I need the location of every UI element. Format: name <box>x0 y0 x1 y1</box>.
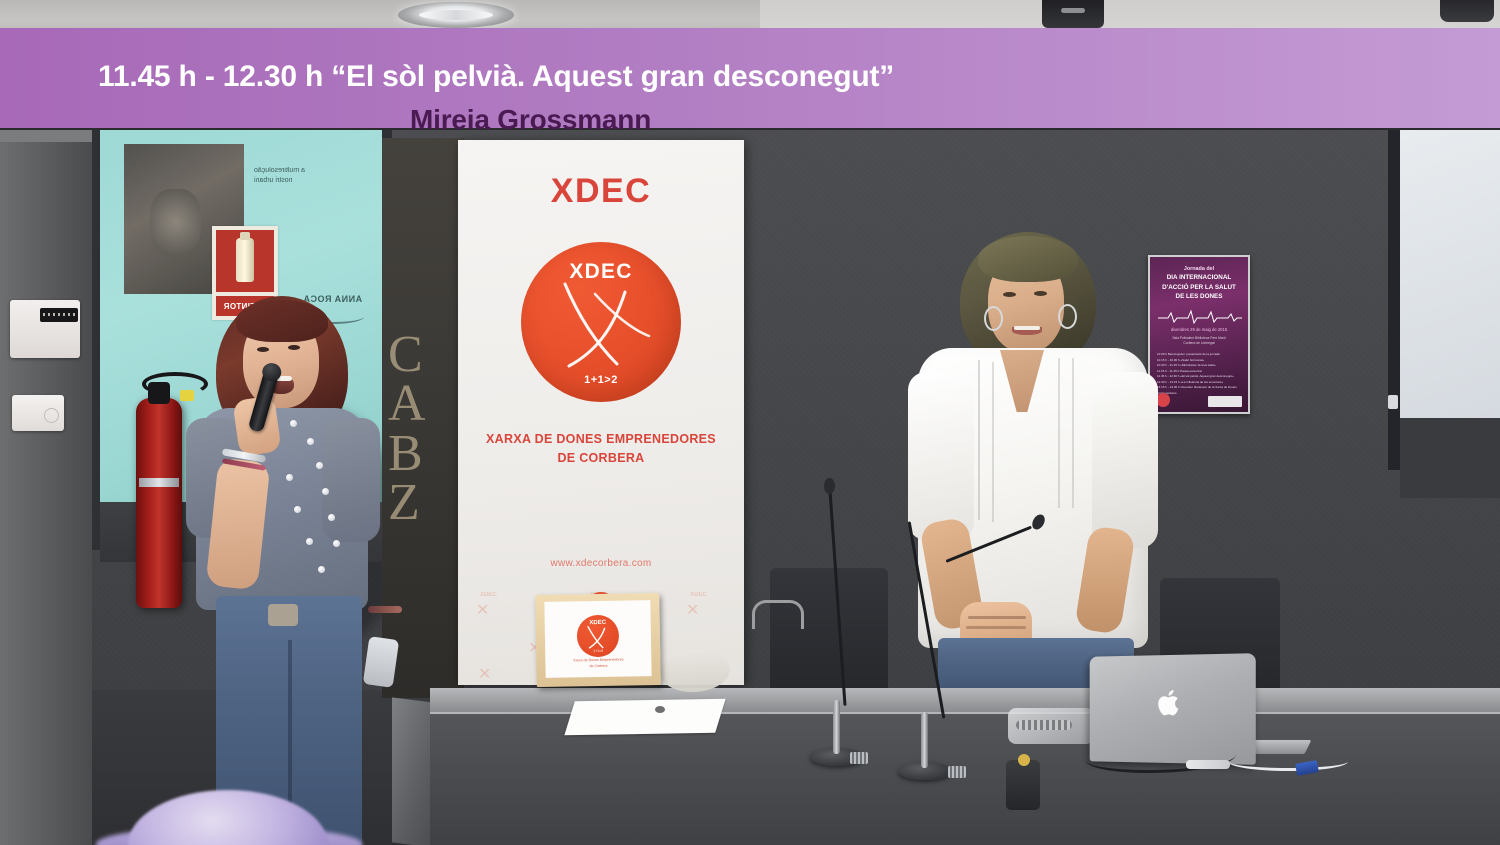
rollup-subtitle-line2: DE CORBERA <box>557 451 644 465</box>
sleeve-left <box>908 372 974 540</box>
extinguisher-tag <box>180 390 194 401</box>
slide-text-line2: nostri urbani <box>254 176 374 186</box>
finger-line <box>966 626 1026 629</box>
hair-fringe <box>978 236 1078 282</box>
poster-kicker: Jornada del <box>1184 266 1214 272</box>
watermark-x-icon: ✕ <box>476 600 489 620</box>
projection-screen-right <box>1400 130 1500 418</box>
jeans-drawstring <box>268 604 298 626</box>
sleeve-right <box>1092 372 1158 548</box>
white-cable <box>1228 752 1348 771</box>
banner-speaker-name: Mireia Grossmann <box>410 104 651 136</box>
poster-logo-row <box>1156 389 1242 407</box>
poster-venue-line1: Sala Polivalent Biblioteca Pere Martí <box>1172 336 1225 340</box>
poster-title-line3: DE LES DONES <box>1176 293 1223 300</box>
glass-etched-letters: CABZ <box>388 330 426 528</box>
usb-plug-icon <box>1186 760 1230 769</box>
desk-left-return <box>392 697 434 845</box>
alarm-panel-icon <box>10 300 80 358</box>
poster-date: divendres 29 de maig de 2015 <box>1150 327 1248 332</box>
eye-left <box>1003 292 1016 297</box>
ceiling-projector-icon <box>1440 0 1494 22</box>
poster-heading: Jornada del DIA INTERNACIONAL D'ACCIÓ PE… <box>1150 257 1248 301</box>
pillar-top-edge <box>0 130 92 142</box>
certificate-caption-line2: de Corbera <box>589 663 607 667</box>
xdec-logo-icon: XDEC 1+1>2 <box>521 242 681 402</box>
extinguisher-pictogram-icon <box>236 238 254 282</box>
rollup-website: www.xdecorbera.com <box>458 558 744 569</box>
wrist-band <box>368 606 402 613</box>
screen-hook-icon <box>1388 395 1398 409</box>
eye-right <box>288 345 300 350</box>
blouse-pleat <box>978 360 980 520</box>
blouse-pleat <box>1058 358 1060 508</box>
extinguisher-hose <box>142 372 208 396</box>
chair-armrest <box>752 600 804 629</box>
poster-venue-line2: Corbera de Llobregat <box>1183 341 1214 345</box>
xdec-motto: 1+1>2 <box>521 374 681 386</box>
eye-left <box>257 347 269 352</box>
extinguisher-band <box>139 478 179 487</box>
finger-line <box>968 616 1026 619</box>
alarm-panel-display <box>40 308 78 322</box>
mic-connector <box>850 752 868 764</box>
certificate-mat: XDEC 1+1>2 Xarxa de Dones Emprenedores d… <box>544 600 651 678</box>
poster-title-line2: D'ACCIÓ PER LA SALUT <box>1162 284 1236 291</box>
ceiling-light-icon <box>398 2 514 28</box>
fire-extinguisher-icon <box>136 398 182 608</box>
banner-title-line: 11.45 h - 12.30 h “El sòl pelvià. Aquest… <box>98 60 894 94</box>
apple-logo-icon <box>1157 687 1183 717</box>
eye-right <box>1034 291 1047 296</box>
paper-sheet <box>564 699 725 736</box>
blouse-pleat <box>1072 358 1074 508</box>
rollup-subtitle-line1: XARXA DE DONES EMPRENEDORES <box>486 432 716 446</box>
poster-logo-red-icon <box>1156 393 1170 407</box>
wall-pillar <box>0 130 92 845</box>
poster-logo-institution-icon <box>1208 396 1242 407</box>
mic-connector <box>948 766 966 778</box>
right-screen-valance <box>1400 418 1500 498</box>
mic-mount-base <box>1006 760 1040 810</box>
teeth <box>1014 326 1040 330</box>
hair-fringe <box>236 300 328 342</box>
slide-presenter-name: ANNA ROCA <box>303 294 362 304</box>
sign-red-field <box>216 230 274 292</box>
ceiling-speaker-icon <box>1042 0 1104 28</box>
certificate-logo-icon: XDEC 1+1>2 <box>577 615 620 658</box>
blouse-pleat <box>992 362 994 522</box>
watermark-x-icon: ✕ <box>686 600 699 620</box>
title-banner: 11.45 h - 12.30 h “El sòl pelvià. Aquest… <box>0 28 1500 128</box>
ecg-heartbeat-icon <box>1158 309 1242 325</box>
cable-bundle <box>1008 708 1094 744</box>
slide-text: a multiresolução nostri urbani <box>254 166 374 186</box>
poster-schedule-item: 11.45 h - 12.30 h «El sol pelvià. Aquest… <box>1157 374 1241 380</box>
certificate-caption-line1: Xarxa de Dones Emprenedores <box>573 658 623 663</box>
poster-venue: Sala Polivalent Biblioteca Pere Martí Co… <box>1150 336 1248 346</box>
health-day-poster: Jornada del DIA INTERNACIONAL D'ACCIÓ PE… <box>1148 255 1250 414</box>
hoop-earring-right <box>1058 304 1077 329</box>
desk-cable-grommet <box>655 706 665 713</box>
watermark-text: XDEC <box>480 592 497 598</box>
rollup-subtitle: XARXA DE DONES EMPRENEDORES DE CORBERA <box>468 430 734 468</box>
conference-chair <box>770 568 888 690</box>
indicator-light-icon <box>1018 754 1030 766</box>
certificate-motto: 1+1>2 <box>577 649 619 654</box>
sleeve-right <box>322 418 380 542</box>
watermark-text: XDEC <box>690 592 707 598</box>
thermostat-icon <box>12 395 64 431</box>
certificate-caption: Xarxa de Dones Emprenedores de Corbera <box>549 657 647 669</box>
watermark-x-icon: ✕ <box>478 664 491 684</box>
conference-photo-slide: a multiresolução nostri urbani ANNA ROCA… <box>0 0 1500 845</box>
framed-certificate: XDEC 1+1>2 Xarxa de Dones Emprenedores d… <box>535 593 661 687</box>
slide-text-line1: a multiresolução <box>254 166 374 176</box>
rollup-heading: XDEC <box>458 172 744 211</box>
poster-title-line1: DIA INTERNACIONAL <box>1167 274 1231 281</box>
hoop-earring-left <box>984 306 1003 331</box>
